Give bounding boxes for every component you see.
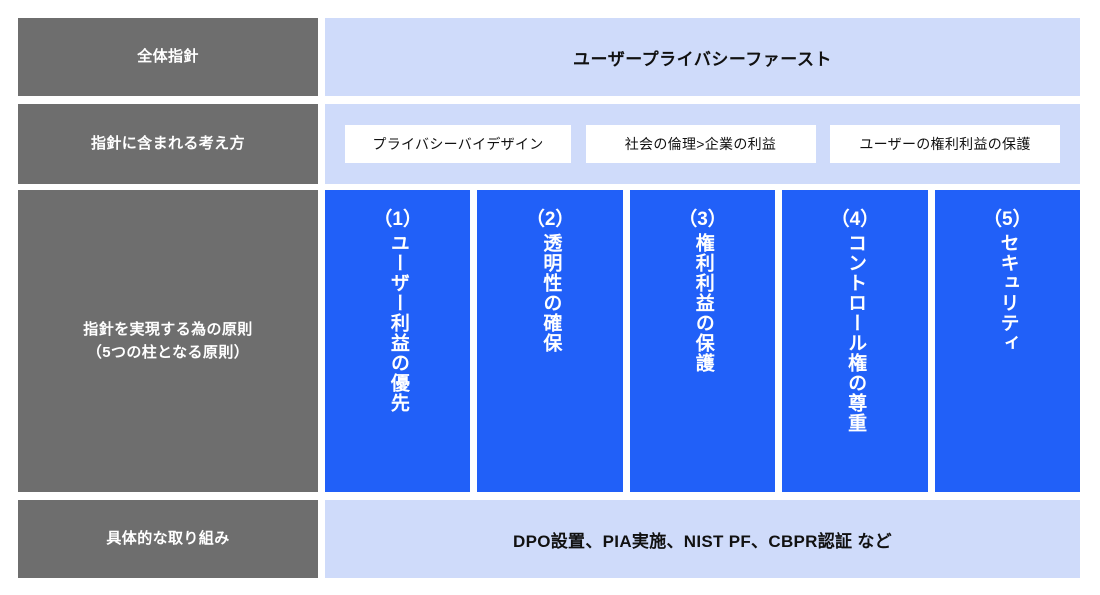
panel-concrete-actions: DPO設置、PIA実施、NIST PF、CBPR認証 など — [325, 500, 1080, 578]
pillar-title: 透明性の確保 — [539, 233, 561, 353]
pillar-title: ユーザー利益の優先 — [387, 233, 409, 413]
pillar-number: （5） — [983, 210, 1032, 231]
pillar-column: （4） コントロール権の尊重 — [782, 190, 927, 492]
pillar-number: （3） — [678, 210, 727, 231]
pillar-column: （2） 透明性の確保 — [477, 190, 622, 492]
row-label-included-concepts-text: 指針に含まれる考え方 — [91, 132, 245, 155]
pillar-column: （3） 権利利益の保護 — [630, 190, 775, 492]
pillar-number: （4） — [831, 210, 880, 231]
pillars-row: （1） ユーザー利益の優先 （2） 透明性の確保 （3） 権利利益の保護 （4）… — [325, 190, 1080, 492]
row-label-overall-guideline-text: 全体指針 — [137, 45, 199, 68]
row-label-overall-guideline: 全体指針 — [18, 18, 318, 96]
row-label-concrete-actions: 具体的な取り組み — [18, 500, 318, 578]
concept-chip: ユーザーの権利利益の保護 — [830, 125, 1060, 163]
concrete-actions-text: DPO設置、PIA実施、NIST PF、CBPR認証 など — [513, 527, 892, 552]
concept-chip: プライバシーバイデザイン — [345, 125, 571, 163]
pillar-title: セキュリティ — [996, 233, 1018, 353]
overall-guideline-title: ユーザープライバシーファースト — [573, 45, 832, 70]
pillar-number: （1） — [373, 210, 422, 231]
row-label-principles-text: 指針を実現する為の原則 （5つの柱となる原則） — [83, 318, 252, 365]
row-label-concrete-actions-text: 具体的な取り組み — [106, 527, 229, 550]
row-label-included-concepts: 指針に含まれる考え方 — [18, 104, 318, 184]
pillar-title: 権利利益の保護 — [691, 233, 713, 373]
row-label-principles: 指針を実現する為の原則 （5つの柱となる原則） — [18, 190, 318, 492]
pillar-column: （5） セキュリティ — [935, 190, 1080, 492]
panel-overall-guideline: ユーザープライバシーファースト — [325, 18, 1080, 96]
panel-included-concepts: プライバシーバイデザイン 社会の倫理>企業の利益 ユーザーの権利利益の保護 — [325, 104, 1080, 184]
concept-chip: 社会の倫理>企業の利益 — [586, 125, 816, 163]
pillar-title: コントロール権の尊重 — [844, 233, 866, 433]
pillar-column: （1） ユーザー利益の優先 — [325, 190, 470, 492]
privacy-policy-framework-diagram: 全体指針 ユーザープライバシーファースト 指針に含まれる考え方 プライバシーバイ… — [0, 0, 1100, 595]
pillar-number: （2） — [526, 210, 575, 231]
